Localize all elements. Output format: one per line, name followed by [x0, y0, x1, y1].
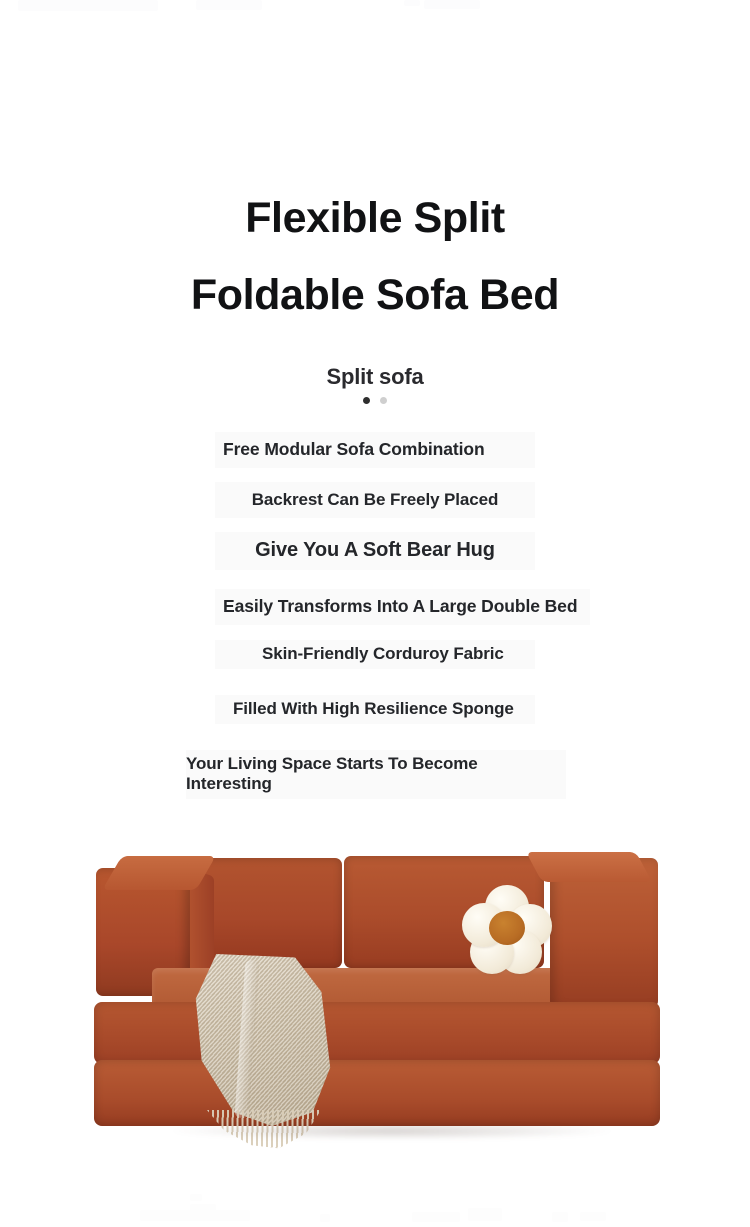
product-image	[0, 840, 750, 1170]
brand-name: Split sofa	[0, 364, 750, 390]
base-layer-lower	[94, 1060, 660, 1126]
flower-center	[489, 911, 525, 945]
brand-block: Split sofa	[0, 364, 750, 406]
residue-block	[468, 1208, 502, 1221]
feature-item-backrest-can-be-freely-placed: Backrest Can Be Freely Placed	[215, 482, 535, 518]
headline-line-2: Foldable Sofa Bed	[0, 257, 750, 334]
bottom-crop-residue	[0, 1196, 750, 1227]
sofa-shadow	[172, 1122, 612, 1140]
residue-block	[404, 0, 420, 6]
top-crop-residue	[0, 0, 750, 16]
left-armrest-top	[102, 856, 216, 890]
throw-blanket-body	[190, 954, 336, 1126]
base-layer-upper	[94, 1002, 660, 1064]
residue-block	[580, 1212, 606, 1221]
carousel-dot-inactive[interactable]	[380, 397, 387, 404]
residue-block	[552, 1212, 568, 1222]
throw-blanket	[190, 954, 336, 1150]
residue-block	[320, 1214, 330, 1222]
headline-line-1: Flexible Split	[0, 180, 750, 257]
carousel-dots[interactable]	[0, 397, 750, 406]
feature-item-your-living-space-starts-to-become-interesting: Your Living Space Starts To Become Inter…	[186, 750, 566, 799]
residue-block	[412, 1212, 460, 1222]
carousel-dot-active[interactable]	[363, 397, 370, 404]
residue-block	[424, 0, 480, 9]
right-armrest-top	[526, 852, 652, 882]
residue-block	[18, 0, 158, 11]
page-title: Flexible Split Foldable Sofa Bed	[0, 180, 750, 334]
feature-item-filled-with-high-resilience-sponge: Filled With High Resilience Sponge	[215, 695, 535, 724]
feature-item-skin-friendly-corduroy-fabric: Skin-Friendly Corduroy Fabric	[215, 640, 535, 669]
residue-block	[190, 1204, 216, 1220]
feature-item-give-you-a-soft-bear-hug: Give You A Soft Bear Hug	[215, 532, 535, 570]
flower-pillow	[464, 886, 550, 972]
sofa-illustration	[98, 850, 658, 1160]
residue-block	[196, 0, 262, 10]
feature-item-easily-transforms-into-a-large-double-bed: Easily Transforms Into A Large Double Be…	[215, 589, 590, 625]
feature-item-free-modular-sofa-combination: Free Modular Sofa Combination	[215, 432, 535, 468]
residue-block	[190, 1194, 202, 1201]
